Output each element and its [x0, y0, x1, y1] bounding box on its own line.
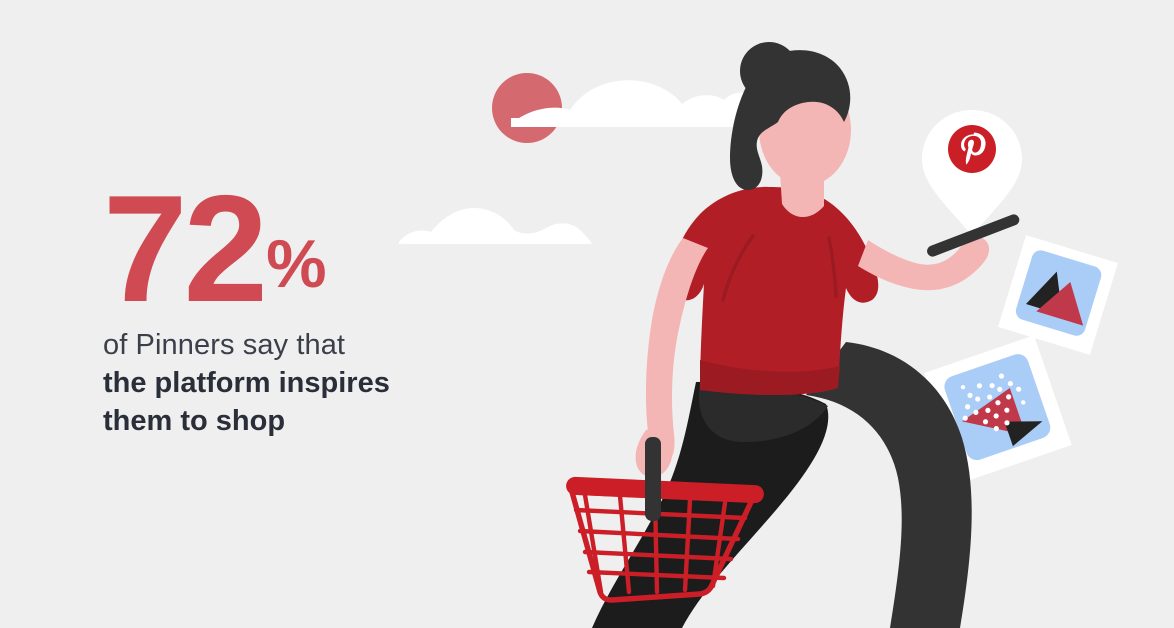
stat-headline: 72 %: [103, 186, 523, 314]
stat-number: 72: [103, 186, 264, 314]
stat-subtitle-line-2: the platform inspires: [103, 364, 523, 402]
stat-subtitle-line-3: them to shop: [103, 402, 523, 440]
stat-percent-symbol: %: [266, 230, 326, 298]
photo-card-mountains: [998, 235, 1118, 355]
person-hair-bun: [740, 42, 798, 100]
cloud-large-base: [511, 118, 756, 127]
stat-copy-block: 72 % of Pinners say that the platform in…: [103, 186, 523, 440]
stat-subtitle-line-1: of Pinners say that: [103, 326, 523, 364]
infographic-canvas: 72 % of Pinners say that the platform in…: [0, 0, 1174, 628]
